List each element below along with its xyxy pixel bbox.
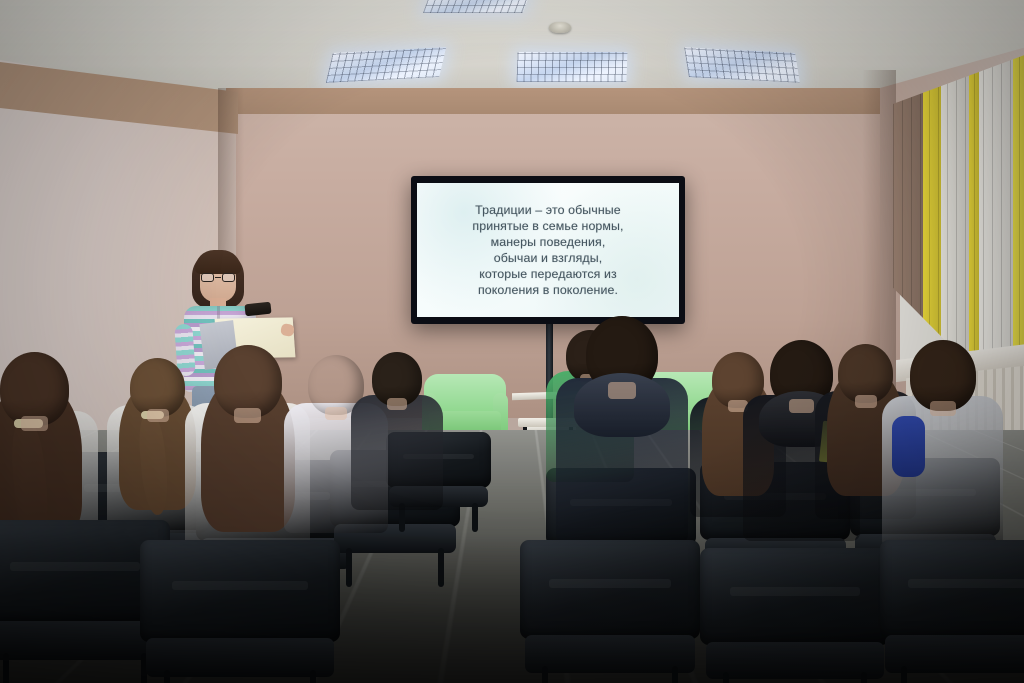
person-neck <box>930 401 956 416</box>
ceiling-lamp-center <box>516 52 627 82</box>
chair-leg <box>672 666 678 683</box>
chair-backrest <box>140 540 340 642</box>
chair-front-a[interactable] <box>520 540 700 683</box>
person-head <box>910 340 976 411</box>
person-neck <box>325 407 347 420</box>
person-head <box>0 352 69 426</box>
person-neck <box>21 416 48 432</box>
audience-boy-dark-top <box>372 352 460 534</box>
slide-canvas: Традиции – это обычные принятые в семье … <box>417 183 679 317</box>
person-torso <box>351 395 443 510</box>
presentation-display[interactable]: Традиции – это обычные принятые в семье … <box>411 176 685 324</box>
presenter-hair-top <box>195 250 241 274</box>
chair-leg <box>438 548 444 588</box>
presentation-remote[interactable] <box>244 302 271 317</box>
chair-leg <box>164 670 170 683</box>
chair-front-c[interactable] <box>880 540 1024 683</box>
glasses-icon <box>201 273 235 282</box>
chair-leg <box>542 666 548 683</box>
classroom-scene: Традиции – это обычные принятые в семье … <box>0 0 1024 683</box>
chair-seat <box>706 642 885 679</box>
ceiling-lamp-left <box>326 47 447 83</box>
chair-leg <box>472 503 478 532</box>
person-neck <box>855 395 877 408</box>
chair-front-b[interactable] <box>700 548 890 683</box>
person-neck <box>147 409 169 422</box>
chair-backrest <box>520 540 700 639</box>
chair-seat <box>146 638 334 677</box>
chair-backrest <box>880 540 1024 639</box>
chair-row1-mid[interactable] <box>140 540 340 683</box>
chair-leg <box>3 653 9 683</box>
person-neck <box>234 408 261 424</box>
chair-seat <box>525 635 694 672</box>
chair-leg <box>901 666 907 683</box>
chair-leg <box>310 670 316 683</box>
chair-leg <box>723 672 729 683</box>
person-raglan-sleeve <box>892 416 925 476</box>
chair-backrest <box>700 548 890 645</box>
person-head <box>214 345 282 418</box>
person-neck <box>608 382 637 399</box>
back-wall-upper-band <box>226 88 932 114</box>
slide-text: Традиции – это обычные принятые в семье … <box>466 202 629 299</box>
ceiling-lamp-far-left <box>423 0 529 13</box>
person-neck <box>789 399 814 414</box>
person-neck <box>387 398 407 410</box>
chair-leg <box>861 672 867 683</box>
smoke-detector-icon <box>549 22 571 33</box>
ceiling-lamp-right <box>684 47 800 83</box>
